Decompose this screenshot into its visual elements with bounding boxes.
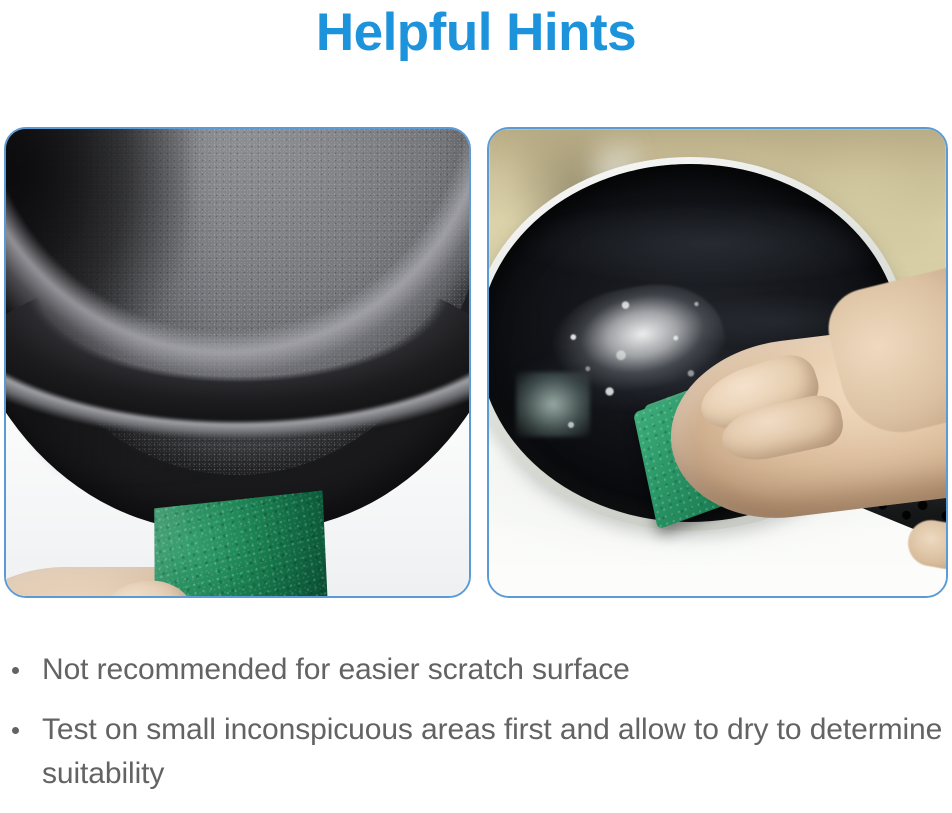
- water-splash: [516, 372, 589, 437]
- image-panels: [4, 127, 948, 598]
- hints-list: Not recommended for easier scratch surfa…: [0, 648, 952, 812]
- hint-text: Test on small inconspicuous areas first …: [42, 713, 942, 790]
- list-item: Not recommended for easier scratch surfa…: [0, 648, 952, 692]
- page-title: Helpful Hints: [0, 2, 952, 64]
- pan-with-sponge-photo: [6, 129, 469, 596]
- hint-text: Not recommended for easier scratch surfa…: [42, 653, 630, 686]
- right-image-panel: [487, 127, 948, 598]
- bullet-icon: [12, 667, 19, 674]
- left-image-panel: [4, 127, 471, 598]
- bullet-icon: [12, 727, 19, 734]
- list-item: Test on small inconspicuous areas first …: [0, 708, 952, 796]
- scrubbing-pan-photo: [489, 129, 946, 596]
